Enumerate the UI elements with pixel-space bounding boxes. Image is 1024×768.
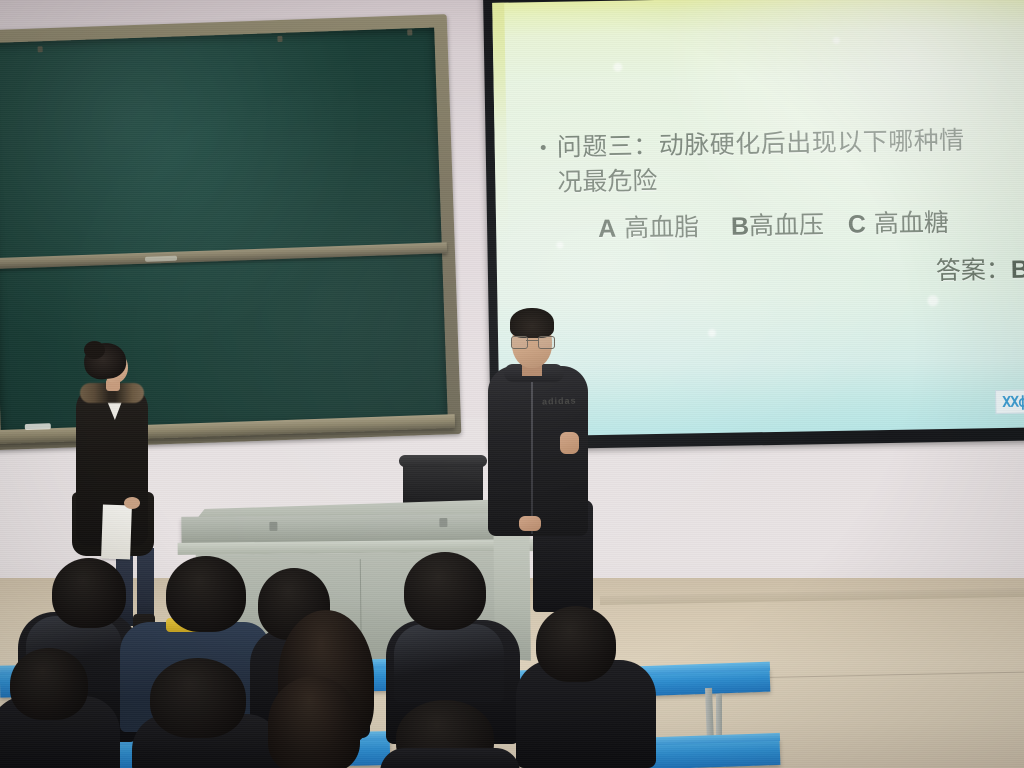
option-a-letter: A [598, 215, 617, 243]
option-b-text: 高血压 [749, 210, 825, 240]
podium-latch [269, 522, 277, 531]
student-jacket-sheen [394, 624, 504, 702]
option-a-text: 高血脂 [624, 212, 700, 242]
student-head [10, 648, 88, 720]
assistant-hand [124, 497, 140, 509]
assistant-hair-bun [84, 341, 105, 359]
slide-question-line1: 问题三：动脉硬化后出现以下哪种情 [556, 126, 964, 162]
board-clip [277, 36, 282, 42]
student-head [166, 556, 246, 632]
student-torso [380, 748, 520, 768]
chair-top-rail [399, 455, 487, 467]
watermark-text: XXф [1002, 394, 1024, 409]
classroom-photo: 问题三：动脉硬化后出现以下哪种情 况最危险 A 高血脂 B高血压 C 高血糖 答… [0, 0, 1024, 768]
presenter-jacket-zipper [531, 382, 533, 534]
presenter-hand-on-podium [519, 516, 541, 531]
chalk-stick [25, 423, 51, 430]
slide-sparkle [613, 63, 622, 72]
student-long-hair [268, 676, 360, 768]
slide-question-line2: 况最危险 [557, 156, 1024, 199]
projector-watermark-logo: XXф [995, 389, 1024, 414]
chalkboard [0, 14, 461, 450]
option-b-letter: B [731, 212, 750, 240]
glasses-bridge [526, 340, 538, 341]
glasses-left-lens [511, 336, 528, 349]
board-clip [38, 46, 43, 52]
slide-answer-row: 答案：B [543, 249, 1024, 294]
bullet-icon [541, 145, 546, 150]
board-clip [407, 29, 412, 35]
slide-sparkle [927, 295, 938, 306]
chalkboard-surface [0, 28, 448, 434]
answer-value: B [1011, 256, 1024, 284]
student-head [404, 552, 486, 630]
student-head [52, 558, 126, 628]
presenter-hair [510, 308, 554, 338]
answer-label: 答案： [936, 255, 1012, 285]
slide-sparkle [708, 329, 716, 337]
presenter-brand-logo: adidas [542, 395, 577, 406]
student-head [536, 606, 616, 682]
student-head [150, 658, 246, 738]
podium-latch [439, 518, 447, 527]
assistant-papers [101, 505, 132, 560]
presenter-raised-hand [560, 432, 579, 454]
glasses-right-lens [538, 336, 555, 349]
glasses-icon [511, 336, 553, 347]
option-c-text: 高血糖 [874, 208, 950, 238]
slide-options-row: A 高血脂 B高血压 C 高血糖 [598, 201, 1024, 245]
option-c-letter: C [848, 210, 867, 238]
slide-text-block: 问题三：动脉硬化后出现以下哪种情 况最危险 A 高血脂 B高血压 C 高血糖 答… [540, 121, 1024, 294]
slide-sparkle [833, 37, 840, 44]
